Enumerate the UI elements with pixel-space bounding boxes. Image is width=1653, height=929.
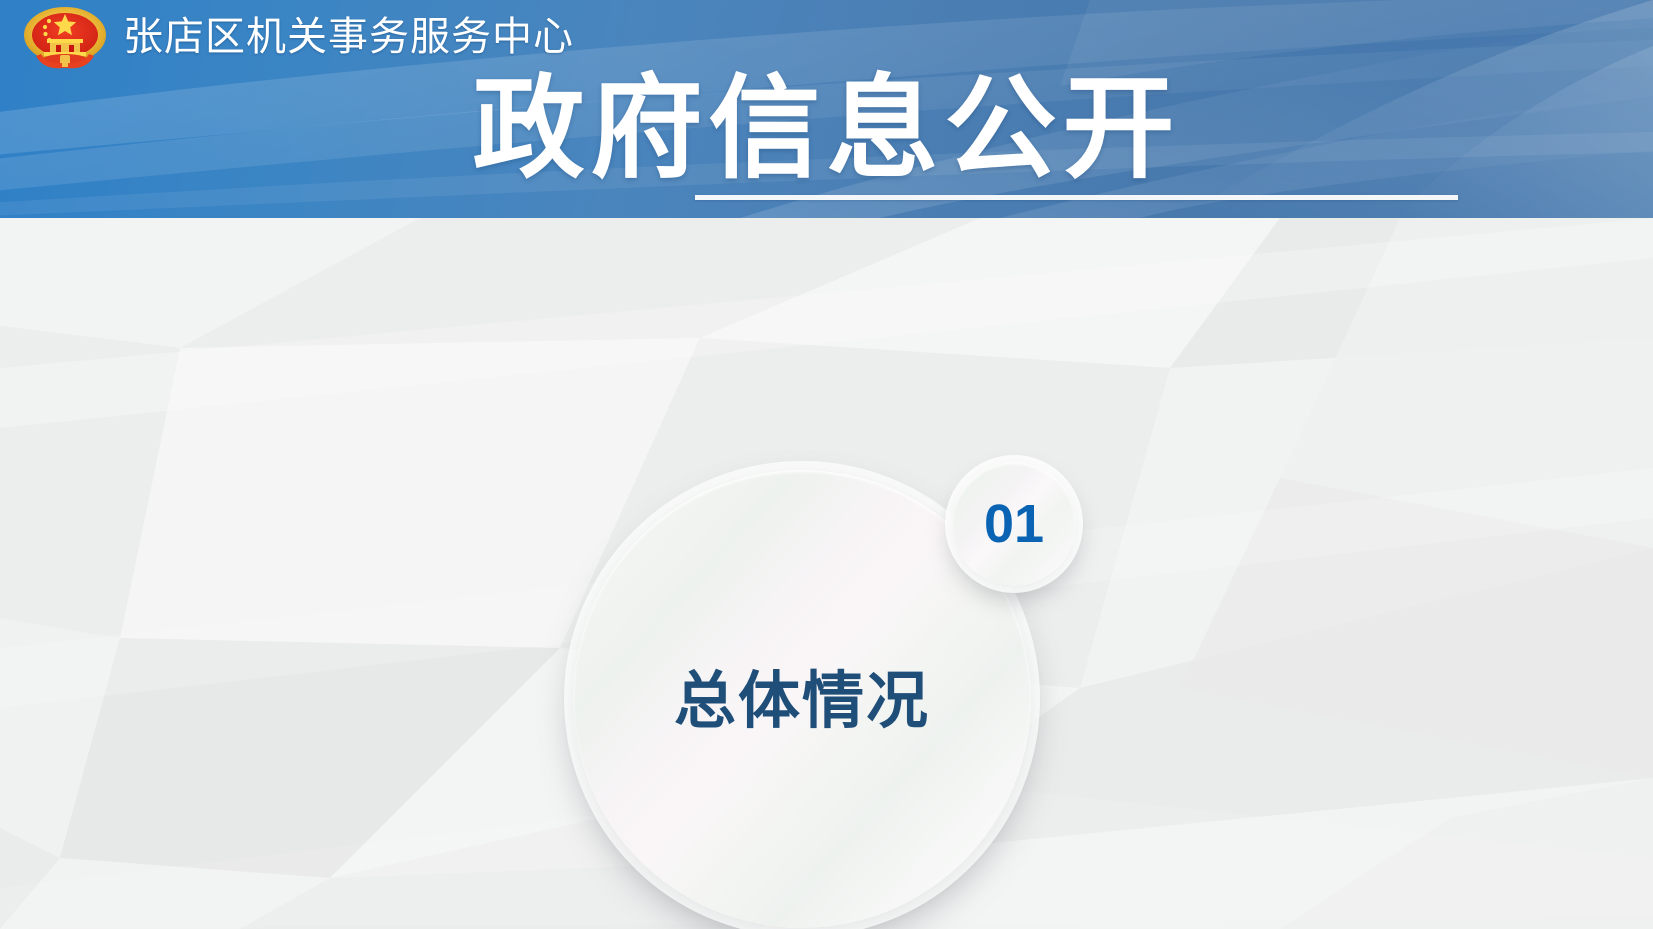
presentation-slide: 张店区机关事务服务中心 政府信息公开 <box>0 0 1653 929</box>
slide-body: 总体情况 01 <box>0 218 1653 929</box>
section-number-circle: 01 <box>952 462 1076 586</box>
slide-header-banner: 张店区机关事务服务中心 政府信息公开 <box>0 0 1653 218</box>
organization-name: 张店区机关事务服务中心 <box>123 14 574 60</box>
title-underline-rule <box>695 195 1458 200</box>
section-number-text: 01 <box>952 495 1076 553</box>
slide-main-title: 政府信息公开 <box>0 70 1653 188</box>
section-title-text: 总体情况 <box>573 666 1031 738</box>
china-national-emblem-icon <box>14 4 116 72</box>
